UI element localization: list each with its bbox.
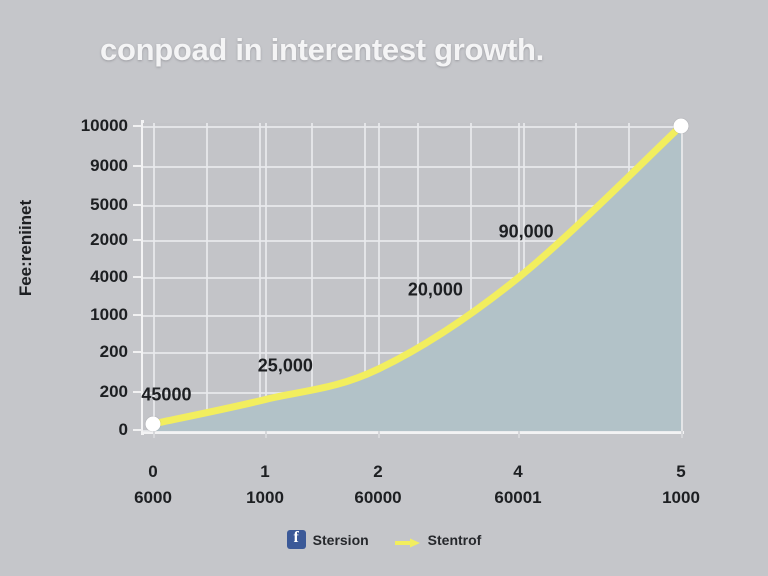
y-axis-tick bbox=[133, 276, 142, 278]
legend-label-stersion: Stersion bbox=[313, 532, 369, 548]
y-axis-tick bbox=[133, 239, 142, 241]
y-axis-tick bbox=[133, 204, 142, 206]
plot-area: 4500025,00020,00090,000 bbox=[143, 123, 681, 431]
x-axis-tick-label: 0 bbox=[148, 462, 157, 482]
x-axis-tick-label: 2 bbox=[373, 462, 382, 482]
y-axis-tick bbox=[133, 351, 142, 353]
data-label: 25,000 bbox=[258, 356, 313, 377]
x-axis-tick-sublabel: 6000 bbox=[134, 488, 172, 508]
legend-label-stentrof: Stentrof bbox=[428, 532, 482, 548]
x-axis-tick-sublabel: 1000 bbox=[662, 488, 700, 508]
data-point-marker bbox=[674, 119, 689, 134]
data-label: 90,000 bbox=[499, 222, 554, 243]
data-label: 20,000 bbox=[408, 280, 463, 301]
y-axis-tick-label: 200 bbox=[8, 342, 128, 362]
y-axis-tick-label: 200 bbox=[8, 382, 128, 402]
x-axis-tick bbox=[153, 431, 155, 438]
x-axis-tick-sublabel: 1000 bbox=[246, 488, 284, 508]
x-axis-tick bbox=[265, 431, 267, 438]
chart-title: conpoad in interentest growth. bbox=[100, 28, 720, 72]
x-axis-tick bbox=[681, 431, 683, 438]
y-axis-tick-label: 2000 bbox=[8, 230, 128, 250]
legend-item-stentrof[interactable]: Stentrof bbox=[395, 532, 482, 548]
legend-item-stersion[interactable]: Stersion bbox=[287, 530, 369, 549]
y-axis-tick-label: 0 bbox=[8, 420, 128, 440]
y-axis-tick bbox=[133, 125, 142, 127]
series-plot bbox=[143, 123, 681, 431]
y-axis-tick bbox=[133, 165, 142, 167]
y-axis-tick-label: 5000 bbox=[8, 195, 128, 215]
y-axis-tick-label: 4000 bbox=[8, 267, 128, 287]
x-axis-tick-sublabel: 60000 bbox=[354, 488, 401, 508]
facebook-icon bbox=[287, 530, 306, 549]
y-axis-labels: 10000900050002000400010002002000 bbox=[0, 0, 128, 576]
y-axis-tick-label: 1000 bbox=[8, 305, 128, 325]
line-arrow-icon bbox=[395, 535, 421, 545]
chart-container: conpoad in interentest growth. Fee:renii… bbox=[0, 0, 768, 576]
x-axis-tick-sublabel: 60001 bbox=[494, 488, 541, 508]
data-label: 45000 bbox=[141, 385, 191, 406]
y-axis-tick-label: 9000 bbox=[8, 156, 128, 176]
x-axis-tick-label: 5 bbox=[676, 462, 685, 482]
y-axis-tick bbox=[133, 429, 142, 431]
area-fill bbox=[153, 126, 681, 431]
data-point-marker bbox=[146, 416, 161, 431]
y-axis-tick bbox=[133, 314, 142, 316]
y-axis-tick-label: 10000 bbox=[8, 116, 128, 136]
chart-legend: Stersion Stentrof bbox=[0, 530, 768, 549]
x-axis-tick-label: 1 bbox=[260, 462, 269, 482]
x-axis-tick bbox=[378, 431, 380, 438]
x-axis-tick-label: 4 bbox=[513, 462, 522, 482]
x-axis-tick bbox=[518, 431, 520, 438]
gridline bbox=[681, 123, 683, 431]
